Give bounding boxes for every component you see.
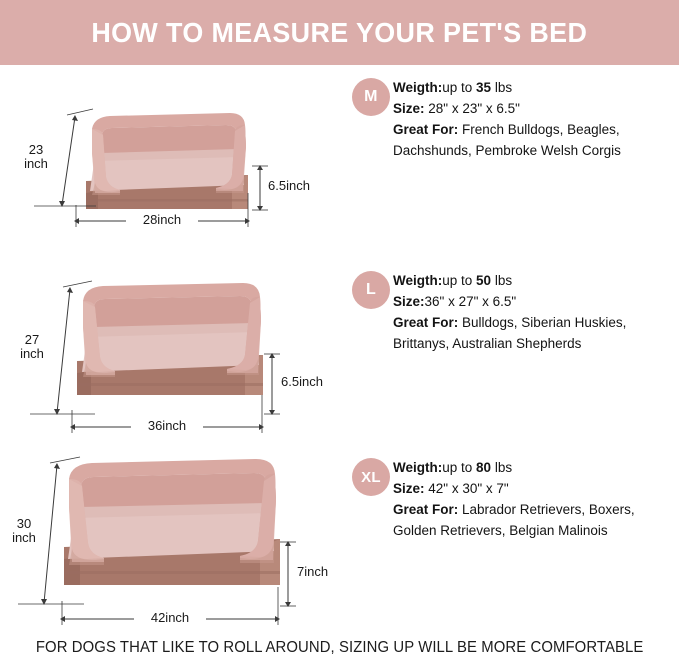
height-label-l: 6.5inch — [281, 375, 345, 389]
great-for-label-l: Great For: — [393, 315, 458, 330]
depth-label-m: 23 inch — [12, 143, 60, 170]
weight-label-xl: Weigth: — [393, 460, 442, 475]
bed-back-bolster-inner — [94, 296, 253, 327]
weight-label-l: Weigth: — [393, 273, 442, 288]
footer-note: FOR DOGS THAT LIKE TO ROLL AROUND, SIZIN… — [0, 628, 679, 668]
width-label-l: 36inch — [131, 419, 203, 433]
size-badge-m: M — [352, 78, 390, 116]
weight-prefix-m: up to — [442, 80, 476, 95]
width-label-m: 28inch — [126, 213, 198, 227]
depth-label-xl: 30 inch — [2, 517, 46, 544]
bed-svg-l — [55, 277, 295, 417]
great-for-label-m: Great For: — [393, 122, 458, 137]
bed-illustration-m: 23 inch 28inch 6.5inch — [0, 65, 340, 255]
size-row-m: 23 inch 28inch 6.5inch M Weigth:up to 35… — [0, 65, 679, 255]
size-row-xl: 30 inch 42inch 7inch XL Weigth:up to 80 … — [0, 445, 679, 635]
size-label-m: Size: — [393, 101, 425, 116]
dog-bed-drawing-xl — [42, 455, 312, 605]
great-for-line2-xl: Golden Retrievers, Belgian Malinois — [393, 520, 678, 541]
bed-back-bolster-inner — [102, 125, 238, 153]
illustration-cell-m: 23 inch 28inch 6.5inch — [0, 65, 340, 255]
bed-illustration-l: 27 inch 36inch 6.5inch — [0, 255, 340, 445]
great-for-label-xl: Great For: — [393, 502, 458, 517]
bed-base-seam — [86, 199, 248, 202]
bed-illustration-xl: 30 inch 42inch 7inch — [0, 445, 340, 635]
weight-unit-m: lbs — [491, 80, 512, 95]
bed-svg-xl — [42, 455, 312, 605]
size-label-xl: Size: — [393, 481, 425, 496]
great-for-line2-l: Brittanys, Australian Shepherds — [393, 333, 678, 354]
size-rows: 23 inch 28inch 6.5inch M Weigth:up to 35… — [0, 65, 679, 635]
size-value-m: 28" x 23" x 6.5" — [425, 101, 520, 116]
weight-line-xl: Weigth:up to 80 lbs — [393, 457, 678, 478]
weight-value-l: 50 — [476, 273, 491, 288]
great-for-text1-l: Bulldogs, Siberian Huskies, — [458, 315, 626, 330]
footer-text: FOR DOGS THAT LIKE TO ROLL AROUND, SIZIN… — [36, 639, 644, 657]
page-title: HOW TO MEASURE YOUR PET'S BED — [92, 17, 588, 49]
width-label-xl: 42inch — [134, 611, 206, 625]
size-badge-l: L — [352, 271, 390, 309]
depth-label-l: 27 inch — [8, 333, 56, 360]
weight-unit-xl: lbs — [491, 460, 512, 475]
weight-line-m: Weigth:up to 35 lbs — [393, 77, 678, 98]
spec-text-xl: Weigth:up to 80 lbs Size: 42" x 30" x 7"… — [393, 457, 678, 541]
header-banner: HOW TO MEASURE YOUR PET'S BED — [0, 0, 679, 65]
height-label-m: 6.5inch — [268, 179, 332, 193]
great-for-text1-m: French Bulldogs, Beagles, — [458, 122, 619, 137]
spec-text-l: Weigth:up to 50 lbs Size:36" x 27" x 6.5… — [393, 270, 678, 354]
illustration-cell-l: 27 inch 36inch 6.5inch — [0, 255, 340, 445]
weight-unit-l: lbs — [491, 273, 512, 288]
illustration-cell-xl: 30 inch 42inch 7inch — [0, 445, 340, 635]
size-line-m: Size: 28" x 23" x 6.5" — [393, 98, 678, 119]
size-line-l: Size:36" x 27" x 6.5" — [393, 291, 678, 312]
weight-label-m: Weigth: — [393, 80, 442, 95]
weight-line-l: Weigth:up to 50 lbs — [393, 270, 678, 291]
size-value-xl: 42" x 30" x 7" — [425, 481, 509, 496]
size-badge-xl: XL — [352, 458, 390, 496]
height-label-xl: 7inch — [297, 565, 357, 579]
great-for-line1-xl: Great For: Labrador Retrievers, Boxers, — [393, 499, 678, 520]
bed-base-seam — [77, 383, 263, 386]
weight-prefix-xl: up to — [442, 460, 476, 475]
spec-text-m: Weigth:up to 35 lbs Size: 28" x 23" x 6.… — [393, 77, 678, 161]
size-value-l: 36" x 27" x 6.5" — [425, 294, 517, 309]
great-for-line1-m: Great For: French Bulldogs, Beagles, — [393, 119, 678, 140]
weight-prefix-l: up to — [442, 273, 476, 288]
great-for-text1-xl: Labrador Retrievers, Boxers, — [458, 502, 634, 517]
great-for-line1-l: Great For: Bulldogs, Siberian Huskies, — [393, 312, 678, 333]
size-row-l: 27 inch 36inch 6.5inch L Weigth:up to 50… — [0, 255, 679, 445]
bed-back-bolster-inner — [81, 473, 268, 507]
great-for-line2-m: Dachshunds, Pembroke Welsh Corgis — [393, 140, 678, 161]
dog-bed-drawing-l — [55, 277, 295, 417]
bed-base-seam — [64, 571, 280, 574]
size-line-xl: Size: 42" x 30" x 7" — [393, 478, 678, 499]
weight-value-m: 35 — [476, 80, 491, 95]
weight-value-xl: 80 — [476, 460, 491, 475]
size-label-l: Size: — [393, 294, 425, 309]
